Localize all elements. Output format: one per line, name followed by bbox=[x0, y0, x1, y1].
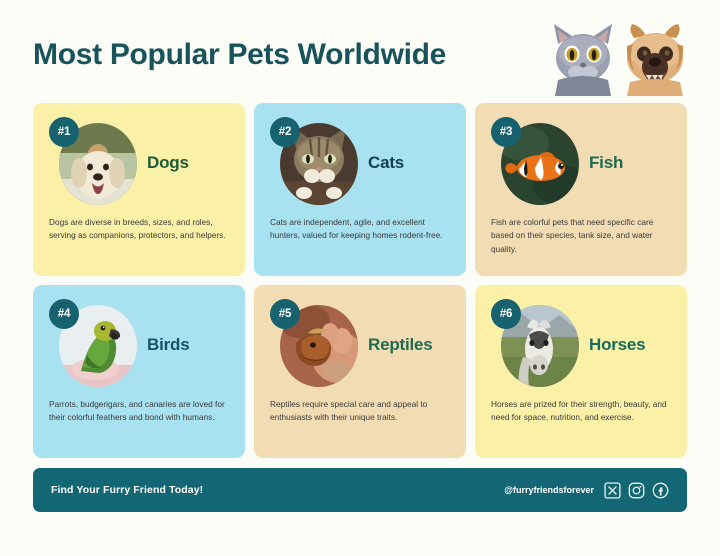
pet-card-fish[interactable]: #3 Fish Fish are colorful pets that need… bbox=[475, 103, 687, 276]
header: Most Popular Pets Worldwide bbox=[0, 0, 720, 92]
pet-card-cats[interactable]: #2 Cats Cats are independent, agile, and… bbox=[254, 103, 466, 276]
cat-illustration bbox=[554, 24, 612, 96]
footer-bar: Find Your Furry Friend Today! @furryfrie… bbox=[33, 468, 687, 512]
facebook-icon[interactable] bbox=[652, 482, 669, 499]
card-title: Birds bbox=[147, 335, 189, 355]
rank-badge: #1 bbox=[49, 117, 79, 147]
rank-badge: #5 bbox=[270, 299, 300, 329]
pet-card-grid: #1 Dogs Dogs are diverse in breeds, size… bbox=[33, 103, 687, 458]
card-description: Reptiles require special care and appeal… bbox=[270, 398, 452, 425]
card-media-row: #2 Cats bbox=[270, 117, 450, 217]
card-title: Reptiles bbox=[368, 335, 433, 355]
pet-card-dogs[interactable]: #1 Dogs Dogs are diverse in breeds, size… bbox=[33, 103, 245, 276]
pet-card-horses[interactable]: #6 Horses Horses are prized for their st… bbox=[475, 285, 687, 458]
card-title: Horses bbox=[589, 335, 645, 355]
rank-badge: #3 bbox=[491, 117, 521, 147]
infographic-page: Most Popular Pets Worldwide bbox=[0, 0, 720, 556]
instagram-icon[interactable] bbox=[628, 482, 645, 499]
card-title: Dogs bbox=[147, 153, 189, 173]
card-media-row: #5 Reptiles bbox=[270, 299, 450, 399]
card-description: Dogs are diverse in breeds, sizes, and r… bbox=[49, 216, 231, 243]
card-title: Cats bbox=[368, 153, 404, 173]
rank-badge: #4 bbox=[49, 299, 79, 329]
card-media-row: #6 Horses bbox=[491, 299, 671, 399]
card-media-row: #3 Fish bbox=[491, 117, 671, 217]
card-media-row: #1 Dogs bbox=[49, 117, 229, 217]
card-description: Horses are prized for their strength, be… bbox=[491, 398, 673, 425]
card-description: Parrots, budgerigars, and canaries are l… bbox=[49, 398, 231, 425]
card-title: Fish bbox=[589, 153, 623, 173]
footer-cta-text: Find Your Furry Friend Today! bbox=[51, 484, 203, 496]
rank-badge: #2 bbox=[270, 117, 300, 147]
page-title: Most Popular Pets Worldwide bbox=[33, 38, 446, 72]
x-twitter-icon[interactable] bbox=[604, 482, 621, 499]
pet-card-birds[interactable]: #4 Birds Parrots, budgerigars, and canar… bbox=[33, 285, 245, 458]
social-handle: @furryfriendsforever bbox=[504, 485, 594, 495]
mascot-illustrations bbox=[538, 18, 698, 96]
pet-card-reptiles[interactable]: #5 Reptiles Reptiles require special car… bbox=[254, 285, 466, 458]
card-media-row: #4 Birds bbox=[49, 299, 229, 399]
card-description: Fish are colorful pets that need specifi… bbox=[491, 216, 673, 256]
footer-social-group: @furryfriendsforever bbox=[504, 482, 669, 499]
dog-illustration bbox=[627, 24, 683, 96]
rank-badge: #6 bbox=[491, 299, 521, 329]
card-description: Cats are independent, agile, and excelle… bbox=[270, 216, 452, 243]
